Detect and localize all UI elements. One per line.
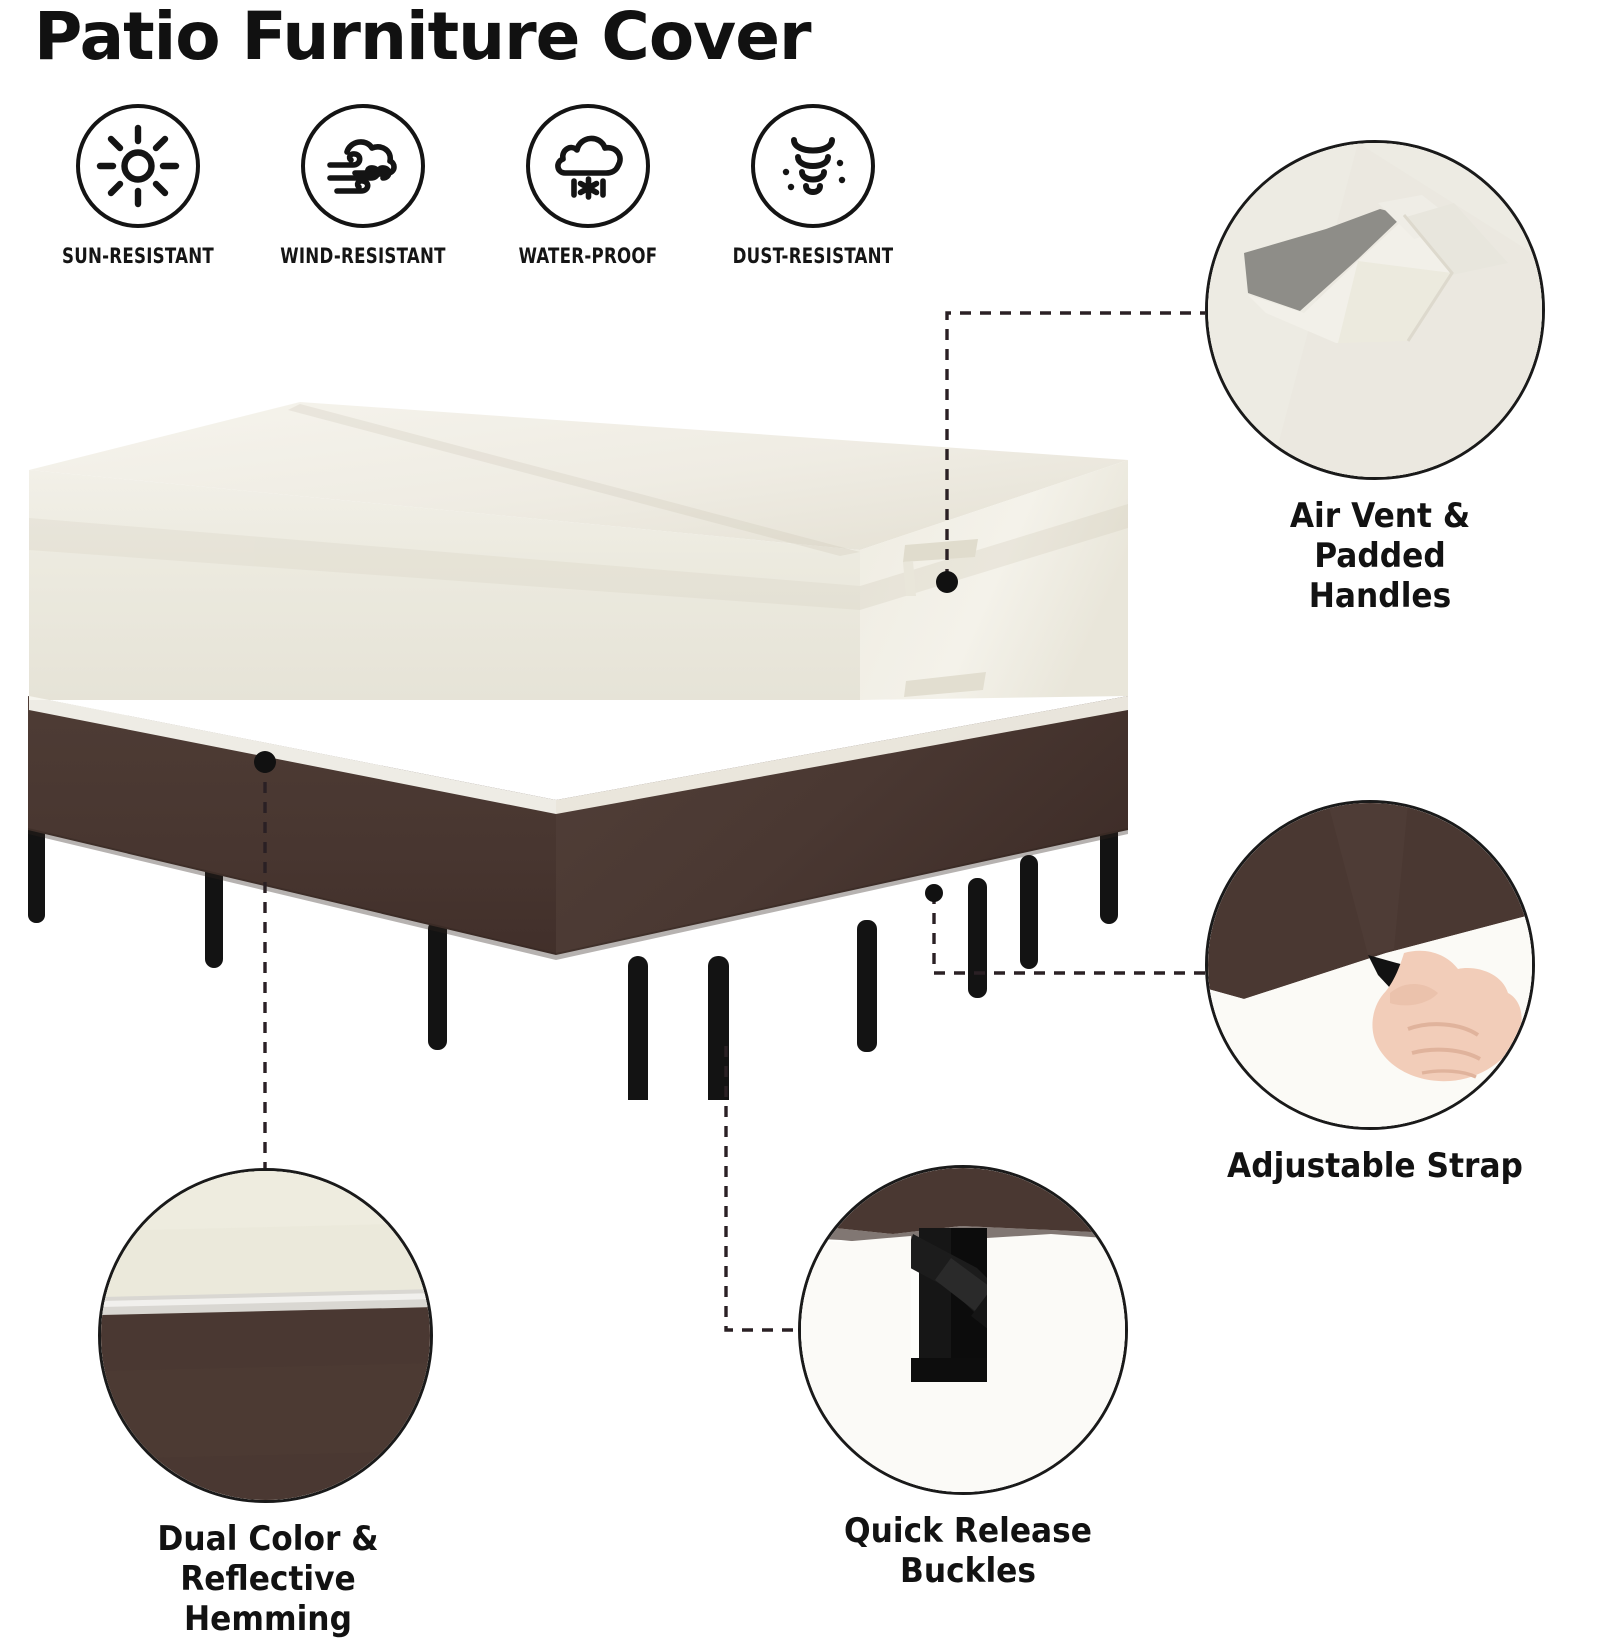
cover-brown-band-left [28,696,556,955]
detail-air-vent-caption: Air Vent & Padded Handles [1219,496,1541,616]
cover-brown-band-right [556,696,1128,955]
detail-dual-color-hemming: Dual Color & Reflective Hemming [98,1168,438,1639]
detail-dual-color-caption: Dual Color & Reflective Hemming [112,1519,425,1639]
sun-icon [76,104,200,228]
feature-badge-label: SUN-RESISTANT [41,244,235,268]
dust-swirl-icon [751,104,875,228]
rain-cloud-icon [526,104,650,228]
feature-badge-dust-resistant: DUST-RESISTANT [703,104,923,268]
feature-badge-label: DUST-RESISTANT [716,244,910,268]
detail-adjustable-strap: Adjustable Strap [1205,800,1545,1186]
feature-badge-row: SUN-RESISTANT WIND-RESISTANT [28,104,928,294]
feature-badge-water-proof: WATER-PROOF [478,104,698,268]
detail-adjustable-strap-caption: Adjustable Strap [1219,1146,1532,1186]
detail-air-vent-image [1205,140,1545,480]
feature-badge-sun-resistant: SUN-RESISTANT [28,104,248,268]
furniture-legs-front [628,956,729,1100]
feature-badge-label: WATER-PROOF [491,244,685,268]
product-illustration [0,400,1210,1100]
detail-air-vent: Air Vent & Padded Handles [1205,140,1555,616]
detail-adjustable-strap-image [1205,800,1535,1130]
feature-badge-wind-resistant: WIND-RESISTANT [253,104,473,268]
wind-cloud-icon [301,104,425,228]
infographic-canvas: Patio Furniture Cover [0,0,1600,1600]
detail-quick-release-image [798,1165,1128,1495]
detail-quick-release-caption: Quick Release Buckles [812,1511,1125,1591]
detail-dual-color-image [98,1168,433,1503]
detail-quick-release-buckles: Quick Release Buckles [798,1165,1138,1591]
page-title: Patio Furniture Cover [34,0,811,75]
feature-badge-label: WIND-RESISTANT [266,244,460,268]
